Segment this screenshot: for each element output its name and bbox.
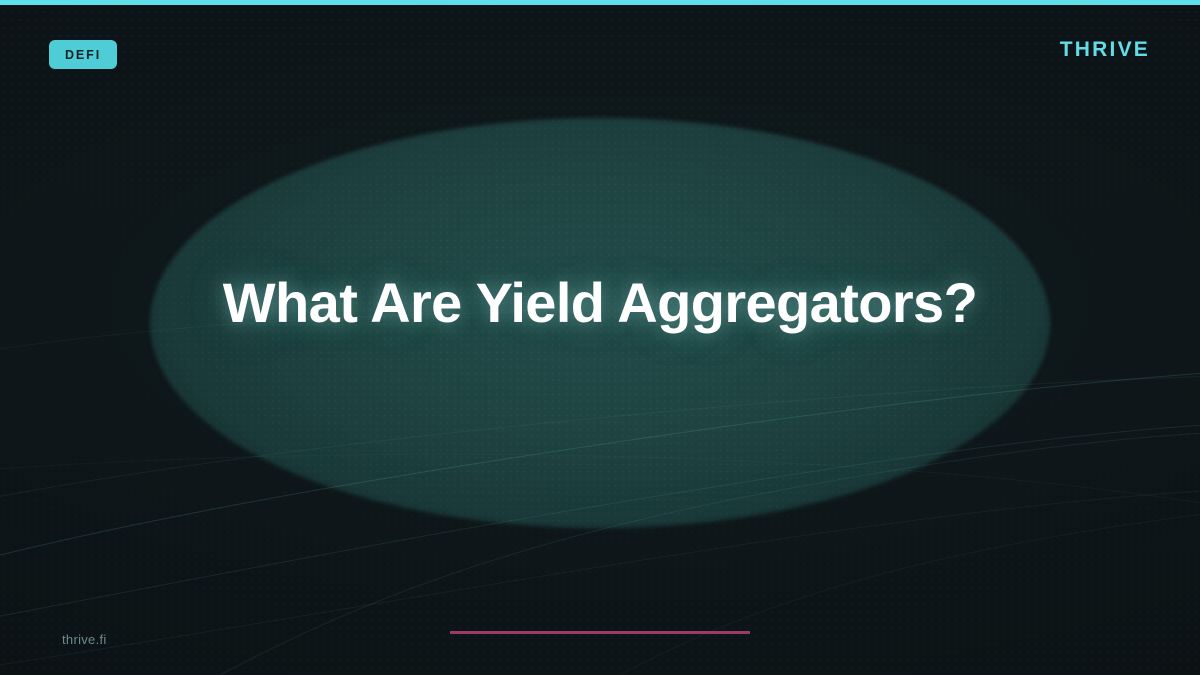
presentation-slide: DEFI THRIVE What Are Yield Aggregators? … bbox=[0, 0, 1200, 675]
slide-title: What Are Yield Aggregators? bbox=[223, 270, 977, 335]
category-badge[interactable]: DEFI bbox=[49, 40, 117, 69]
brand-logo: THRIVE bbox=[1060, 38, 1150, 62]
bottom-accent-line bbox=[450, 631, 750, 634]
title-container: What Are Yield Aggregators? bbox=[0, 270, 1200, 335]
top-accent-bar bbox=[0, 0, 1200, 5]
footer-website-url: thrive.fi bbox=[62, 632, 107, 647]
